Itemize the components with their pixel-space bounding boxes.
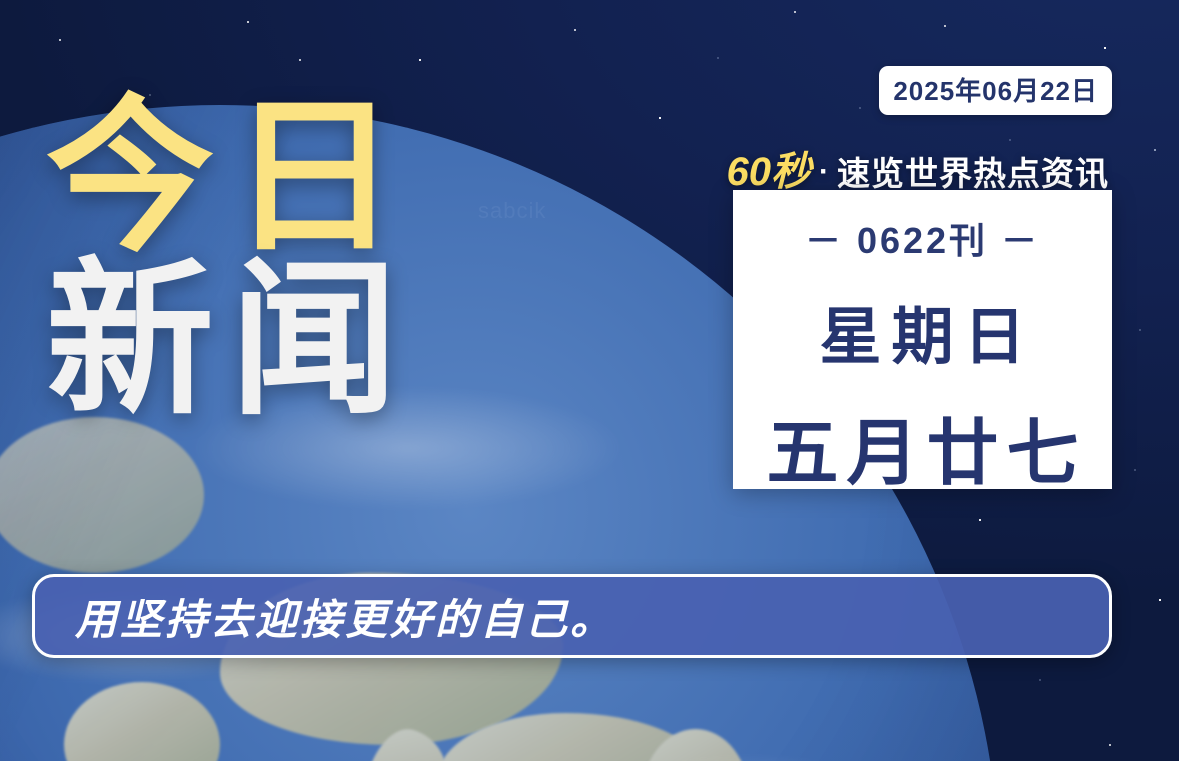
issue-info-card: － 0622刊 － 星期日 五月廿七 xyxy=(733,190,1112,489)
slogan-row: 60秒 · 速览世界热点资讯 xyxy=(727,139,1110,197)
lunar-date-label: 五月廿七 xyxy=(758,394,1086,499)
date-pill: 2025年06月22日 xyxy=(879,66,1112,115)
page-title: 今日 新闻 xyxy=(46,92,414,427)
news-poster: sabcik 2025年06月22日 今日 新闻 60秒 · 速览世界热点资讯 … xyxy=(0,0,1179,761)
headline-line-1: 今日 xyxy=(46,92,414,263)
issue-number: － 0622刊 － xyxy=(805,212,1040,264)
slogan-seconds: 60秒 xyxy=(727,139,812,197)
weekday-label: 星期日 xyxy=(809,286,1035,376)
headline-line-2: 新闻 xyxy=(46,255,414,426)
quote-banner: 用坚持去迎接更好的自己。 xyxy=(32,574,1112,658)
slogan-separator-dot: · xyxy=(819,155,829,189)
quote-text: 用坚持去迎接更好的自己。 xyxy=(35,586,615,647)
slogan-tagline: 速览世界热点资讯 xyxy=(837,147,1109,195)
